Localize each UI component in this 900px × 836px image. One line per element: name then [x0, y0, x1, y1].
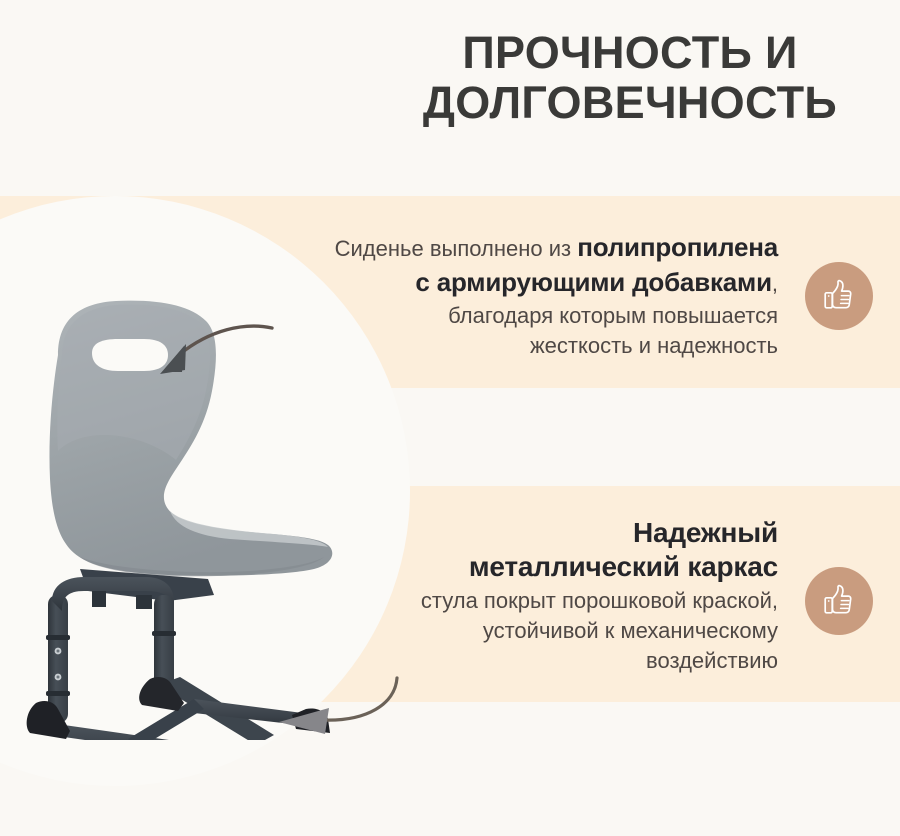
feature-seat-comma: ,: [772, 271, 778, 296]
feature-metal-frame: Надежный металлический каркас стула покр…: [300, 516, 778, 676]
feature-seat-emphasis-1: полипропилена: [577, 232, 778, 262]
feature-frame-badge: [805, 567, 873, 635]
feature-seat-tail-1: благодаря которым повышается: [140, 301, 778, 331]
thumbs-up-icon: [820, 582, 858, 620]
feature-seat-lead: Сиденье выполнено из: [335, 236, 578, 261]
feature-seat-material: Сиденье выполнено из полипропилена с арм…: [140, 230, 778, 361]
feature-frame-tail-3: воздействию: [300, 646, 778, 676]
feature-seat-badge: [805, 262, 873, 330]
thumbs-up-icon: [820, 277, 858, 315]
feature-frame-emphasis-1: Надежный: [633, 517, 778, 548]
feature-seat-emphasis-2: с армирующими добавками: [415, 267, 771, 297]
page-title-line-2: ДОЛГОВЕЧНОСТЬ: [380, 78, 880, 128]
feature-seat-line-1: Сиденье выполнено из полипропилена: [140, 230, 778, 265]
feature-frame-emphasis-2: металлический каркас: [469, 551, 778, 582]
feature-frame-tail-2: устойчивой к механическому: [300, 616, 778, 646]
feature-frame-line-1: Надежный: [300, 516, 778, 550]
promo-poster: ПРОЧНОСТЬ И ДОЛГОВЕЧНОСТЬ: [0, 0, 900, 836]
feature-frame-tail-1: стула покрыт порошковой краской,: [300, 586, 778, 616]
page-title-line-1: ПРОЧНОСТЬ И: [380, 28, 880, 78]
feature-seat-tail-2: жесткость и надежность: [140, 331, 778, 361]
feature-frame-line-2: металлический каркас: [300, 550, 778, 584]
page-title: ПРОЧНОСТЬ И ДОЛГОВЕЧНОСТЬ: [380, 28, 880, 129]
feature-seat-line-2: с армирующими добавками,: [140, 265, 778, 300]
